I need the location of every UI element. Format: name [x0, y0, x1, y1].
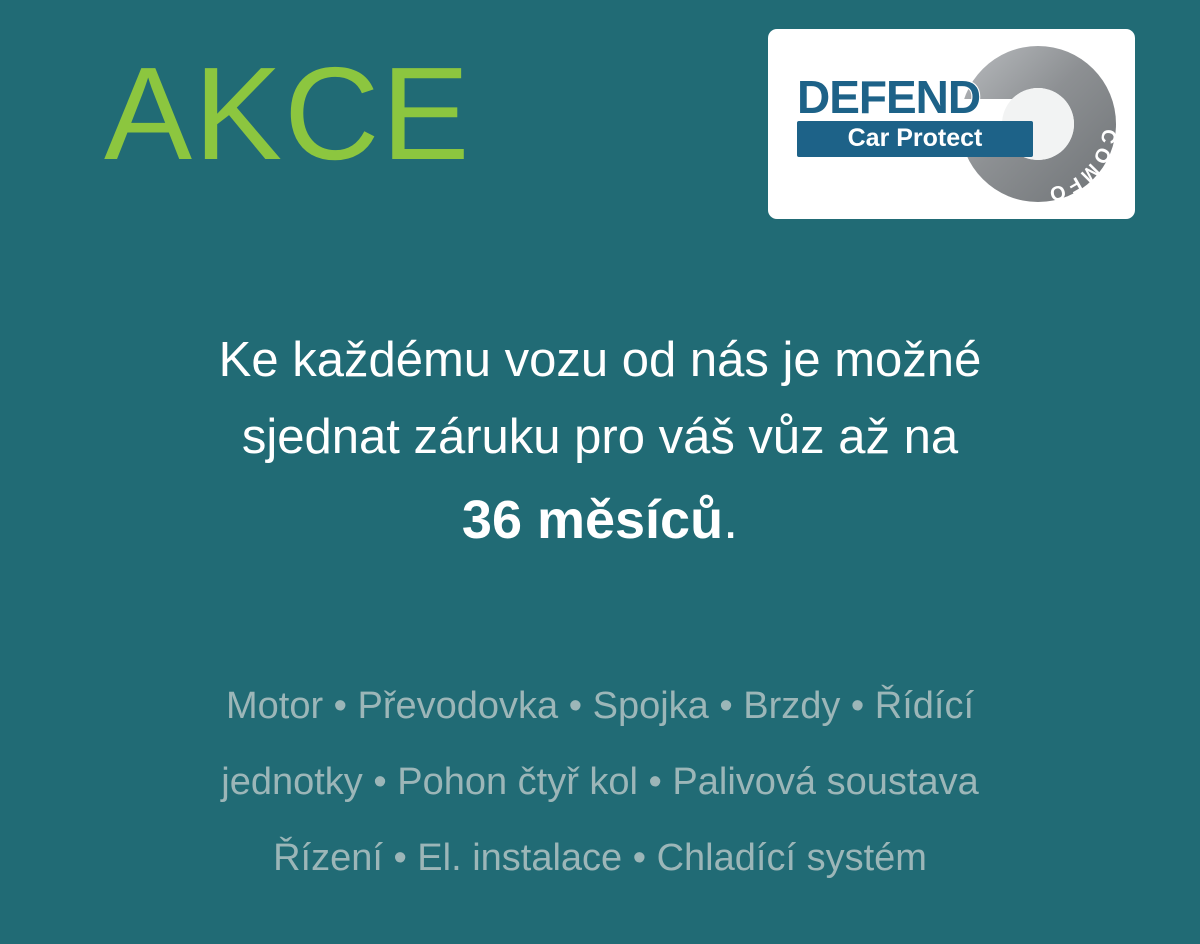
covered-parts-line-3: Řízení • El. instalace • Chladící systém [0, 820, 1200, 896]
message-line-1: Ke každému vozu od nás je možné [0, 322, 1200, 399]
message-line-2: sjednat záruku pro váš vůz až na [0, 399, 1200, 476]
message-highlight-value: 36 měsíců [462, 490, 723, 550]
covered-parts-line-1: Motor • Převodovka • Spojka • Brzdy • Ří… [0, 668, 1200, 744]
promo-banner: AKCE [0, 0, 1200, 944]
headline-akce: AKCE [104, 48, 471, 180]
covered-parts-line-2: jednotky • Pohon čtyř kol • Palivová sou… [0, 744, 1200, 820]
covered-parts-list: Motor • Převodovka • Spojka • Brzdy • Ří… [0, 668, 1200, 896]
message-highlight: 36 měsíců. [0, 476, 1200, 564]
brand-name: DEFEND [797, 75, 1045, 119]
message-highlight-period: . [723, 490, 738, 550]
defend-logo-card: COMFORT DEFEND Car Protect [768, 29, 1135, 219]
logo-inner: COMFORT DEFEND Car Protect [768, 29, 1135, 219]
brand-tagline: Car Protect [807, 126, 1023, 151]
brand-tagline-bar: Car Protect [797, 121, 1033, 157]
defend-wordmark: DEFEND Car Protect [797, 75, 1045, 157]
promo-message: Ke každému vozu od nás je možné sjednat … [0, 322, 1200, 564]
